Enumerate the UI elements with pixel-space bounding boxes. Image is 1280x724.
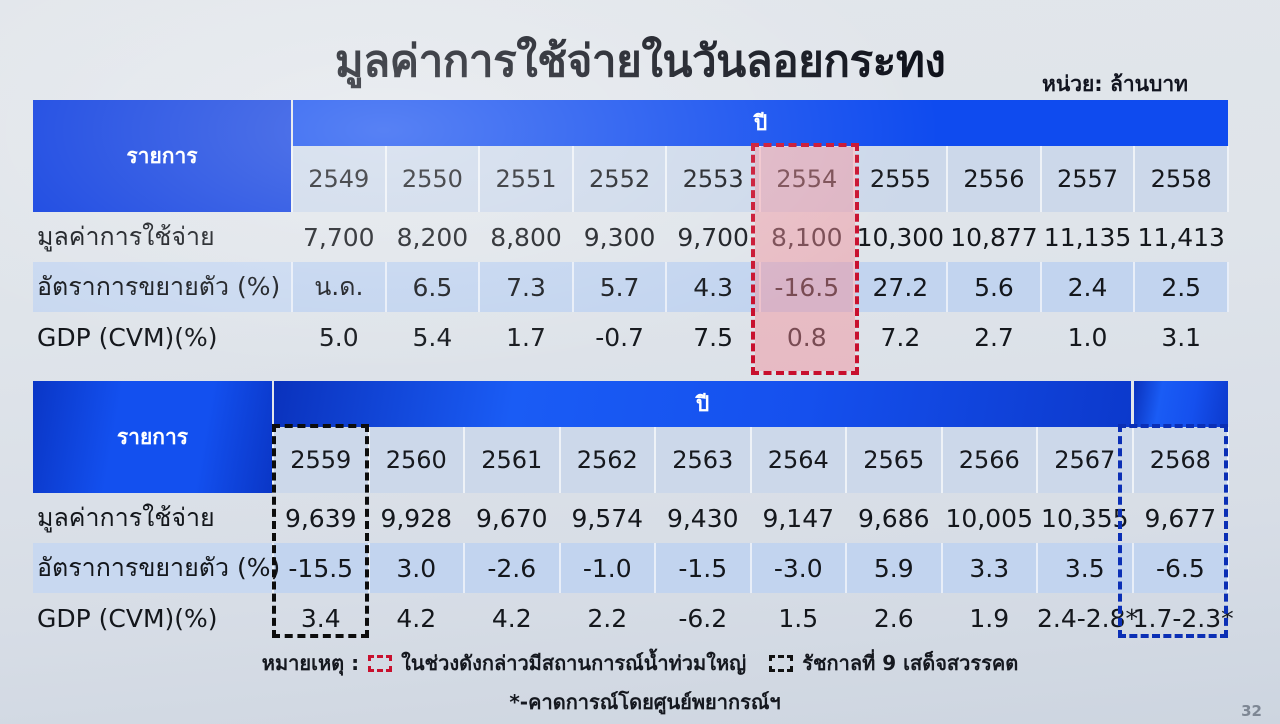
cell: 9,574 (560, 493, 656, 543)
page-number: 32 (1241, 702, 1262, 720)
table-row: มูลค่าการใช้จ่าย 9,639 9,928 9,670 9,574… (33, 493, 1228, 543)
table-row: GDP (CVM)(%) 5.0 5.4 1.7 -0.7 7.5 0.8 7.… (33, 312, 1228, 362)
year-band-label-2568 (1133, 381, 1229, 427)
black-dashed-legend-icon (769, 655, 793, 672)
data-table: รายการ ปี 2549 2550 2551 2552 2553 2554 … (33, 100, 1229, 362)
row-label-gdp: GDP (CVM)(%) (33, 312, 292, 362)
year-header-2568[interactable]: 2568 (1133, 427, 1229, 493)
cell: -2.6 (464, 543, 560, 593)
year-header-2549[interactable]: 2549 (292, 146, 386, 212)
cell-highlighted: 1.7-2.3* (1133, 593, 1229, 643)
unit-label: หน่วย: ล้านบาท (1042, 68, 1188, 101)
cell: 5.0 (292, 312, 386, 362)
row-label-expenditure: มูลค่าการใช้จ่าย (33, 493, 273, 543)
cell: 5.7 (573, 262, 667, 312)
year-header-2565[interactable]: 2565 (846, 427, 942, 493)
cell: 8,200 (386, 212, 480, 262)
footnote-line-1: หมายเหตุ : ในช่วงดังกล่าวมีสถานการณ์น้ำท… (0, 648, 1280, 678)
cell: 2.2 (560, 593, 656, 643)
cell: 10,355 (1037, 493, 1133, 543)
cell: 7.5 (666, 312, 760, 362)
cell: 10,005 (942, 493, 1038, 543)
year-band-label: ปี (292, 100, 1228, 146)
table-row: อัตราการขยายตัว (%) น.ด. 6.5 7.3 5.7 4.3… (33, 262, 1228, 312)
cell: 6.5 (386, 262, 480, 312)
table-bottom-expenditure-2559-2568: รายการ ปี 2559 2560 2561 2562 2563 2564 … (33, 381, 1228, 643)
cell: 10,877 (947, 212, 1041, 262)
cell: 3.1 (1134, 312, 1228, 362)
row-label-gdp: GDP (CVM)(%) (33, 593, 273, 643)
year-header-2566[interactable]: 2566 (942, 427, 1038, 493)
row-label-growth-rate: อัตราการขยายตัว (%) (33, 543, 273, 593)
footnote-red-text: ในช่วงดังกล่าวมีสถานการณ์น้ำท่วมใหญ่ (401, 648, 746, 678)
year-header-2563[interactable]: 2563 (655, 427, 751, 493)
title-row: มูลค่าการใช้จ่ายในวันลอยกระทง หน่วย: ล้า… (0, 34, 1280, 94)
year-header-2560[interactable]: 2560 (369, 427, 465, 493)
year-header-2555[interactable]: 2555 (854, 146, 948, 212)
cell: -3.0 (751, 543, 847, 593)
year-header-2556[interactable]: 2556 (947, 146, 1041, 212)
year-header-2553[interactable]: 2553 (666, 146, 760, 212)
cell: -0.7 (573, 312, 667, 362)
cell: 3.3 (942, 543, 1038, 593)
year-header-2557[interactable]: 2557 (1041, 146, 1135, 212)
cell: 9,147 (751, 493, 847, 543)
red-dashed-legend-icon (368, 655, 392, 672)
cell: 5.6 (947, 262, 1041, 312)
year-header-2559[interactable]: 2559 (273, 427, 369, 493)
cell-highlighted: -15.5 (273, 543, 369, 593)
cell: 1.9 (942, 593, 1038, 643)
cell: 5.4 (386, 312, 480, 362)
cell: 7.3 (479, 262, 573, 312)
cell-highlighted: 3.4 (273, 593, 369, 643)
corner-label-cell: รายการ (33, 381, 273, 493)
cell-highlighted: -16.5 (760, 262, 854, 312)
cell-highlighted: -6.5 (1133, 543, 1229, 593)
cell: 9,430 (655, 493, 751, 543)
cell-highlighted: 8,100 (760, 212, 854, 262)
cell: -1.5 (655, 543, 751, 593)
year-header-2550[interactable]: 2550 (386, 146, 480, 212)
cell: 4.2 (369, 593, 465, 643)
cell: -6.2 (655, 593, 751, 643)
year-header-2562[interactable]: 2562 (560, 427, 656, 493)
table-row: มูลค่าการใช้จ่าย 7,700 8,200 8,800 9,300… (33, 212, 1228, 262)
cell: 4.2 (464, 593, 560, 643)
header-band-row: รายการ ปี (33, 100, 1228, 146)
year-header-2564[interactable]: 2564 (751, 427, 847, 493)
cell-highlighted: 0.8 (760, 312, 854, 362)
corner-label-cell: รายการ (33, 100, 292, 212)
cell: 2.7 (947, 312, 1041, 362)
year-header-2552[interactable]: 2552 (573, 146, 667, 212)
table-top-expenditure-2549-2558: รายการ ปี 2549 2550 2551 2552 2553 2554 … (33, 100, 1228, 362)
cell: -1.0 (560, 543, 656, 593)
cell-highlighted: 9,677 (1133, 493, 1229, 543)
cell: 11,413 (1134, 212, 1228, 262)
cell: 4.3 (666, 262, 760, 312)
footnote-prefix: หมายเหตุ : (262, 648, 359, 678)
cell: 3.0 (369, 543, 465, 593)
year-header-2558[interactable]: 2558 (1134, 146, 1228, 212)
cell: น.ด. (292, 262, 386, 312)
table-row: GDP (CVM)(%) 3.4 4.2 4.2 2.2 -6.2 1.5 2.… (33, 593, 1228, 643)
year-band-label: ปี (273, 381, 1133, 427)
cell: 5.9 (846, 543, 942, 593)
table-row: อัตราการขยายตัว (%) -15.5 3.0 -2.6 -1.0 … (33, 543, 1228, 593)
row-label-growth-rate: อัตราการขยายตัว (%) (33, 262, 292, 312)
cell: 27.2 (854, 262, 948, 312)
cell: 8,800 (479, 212, 573, 262)
cell: 1.5 (751, 593, 847, 643)
cell: 2.5 (1134, 262, 1228, 312)
header-band-row: รายการ ปี (33, 381, 1228, 427)
cell: 1.0 (1041, 312, 1135, 362)
cell: 2.6 (846, 593, 942, 643)
year-header-2561[interactable]: 2561 (464, 427, 560, 493)
cell: 9,300 (573, 212, 667, 262)
year-header-2567[interactable]: 2567 (1037, 427, 1133, 493)
cell: 11,135 (1041, 212, 1135, 262)
cell: 9,928 (369, 493, 465, 543)
footnote-black-text: รัชกาลที่ 9 เสด็จสวรรคต (802, 648, 1018, 678)
cell: 2.4-2.8* (1037, 593, 1133, 643)
footnote-block: หมายเหตุ : ในช่วงดังกล่าวมีสถานการณ์น้ำท… (0, 648, 1280, 718)
cell: 3.5 (1037, 543, 1133, 593)
year-header-2551[interactable]: 2551 (479, 146, 573, 212)
cell: 2.4 (1041, 262, 1135, 312)
year-header-2554[interactable]: 2554 (760, 146, 854, 212)
cell: 9,700 (666, 212, 760, 262)
row-label-expenditure: มูลค่าการใช้จ่าย (33, 212, 292, 262)
data-table: รายการ ปี 2559 2560 2561 2562 2563 2564 … (33, 381, 1229, 643)
cell: 7,700 (292, 212, 386, 262)
cell: 9,670 (464, 493, 560, 543)
cell: 9,686 (846, 493, 942, 543)
cell: 1.7 (479, 312, 573, 362)
cell: 10,300 (854, 212, 948, 262)
cell-highlighted: 9,639 (273, 493, 369, 543)
footnote-line-2: *-คาดการณ์โดยศูนย์พยากรณ์ฯ (0, 686, 1280, 718)
cell: 7.2 (854, 312, 948, 362)
